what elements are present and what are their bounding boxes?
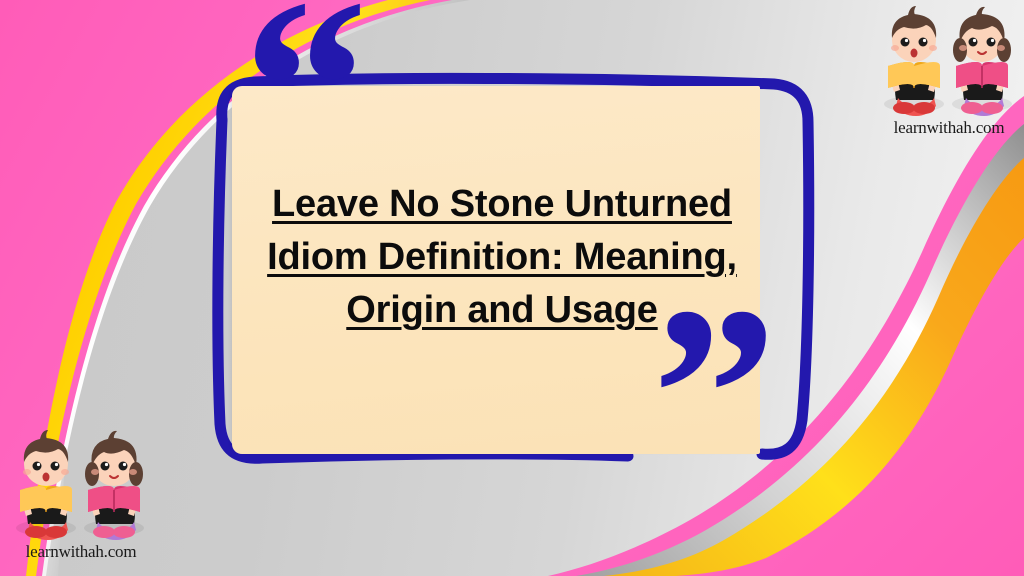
logo-caption: learnwithah.com: [6, 542, 156, 562]
logo-bottom-left: learnwithah.com: [6, 428, 156, 576]
logo-top-right: learnwithah.com: [874, 4, 1024, 152]
girl-figure: [84, 431, 144, 540]
boy-figure: [16, 430, 76, 540]
girl-figure: [952, 7, 1012, 116]
page-title: Leave No Stone Unturned Idiom Definition…: [252, 178, 752, 337]
kids-reading-icon: [874, 4, 1024, 124]
logo-caption: learnwithah.com: [874, 118, 1024, 138]
kids-reading-icon: [6, 428, 156, 548]
poster-canvas: “ ” Leave No Stone Unturned Idiom Defini…: [0, 0, 1024, 576]
boy-figure: [884, 6, 944, 116]
